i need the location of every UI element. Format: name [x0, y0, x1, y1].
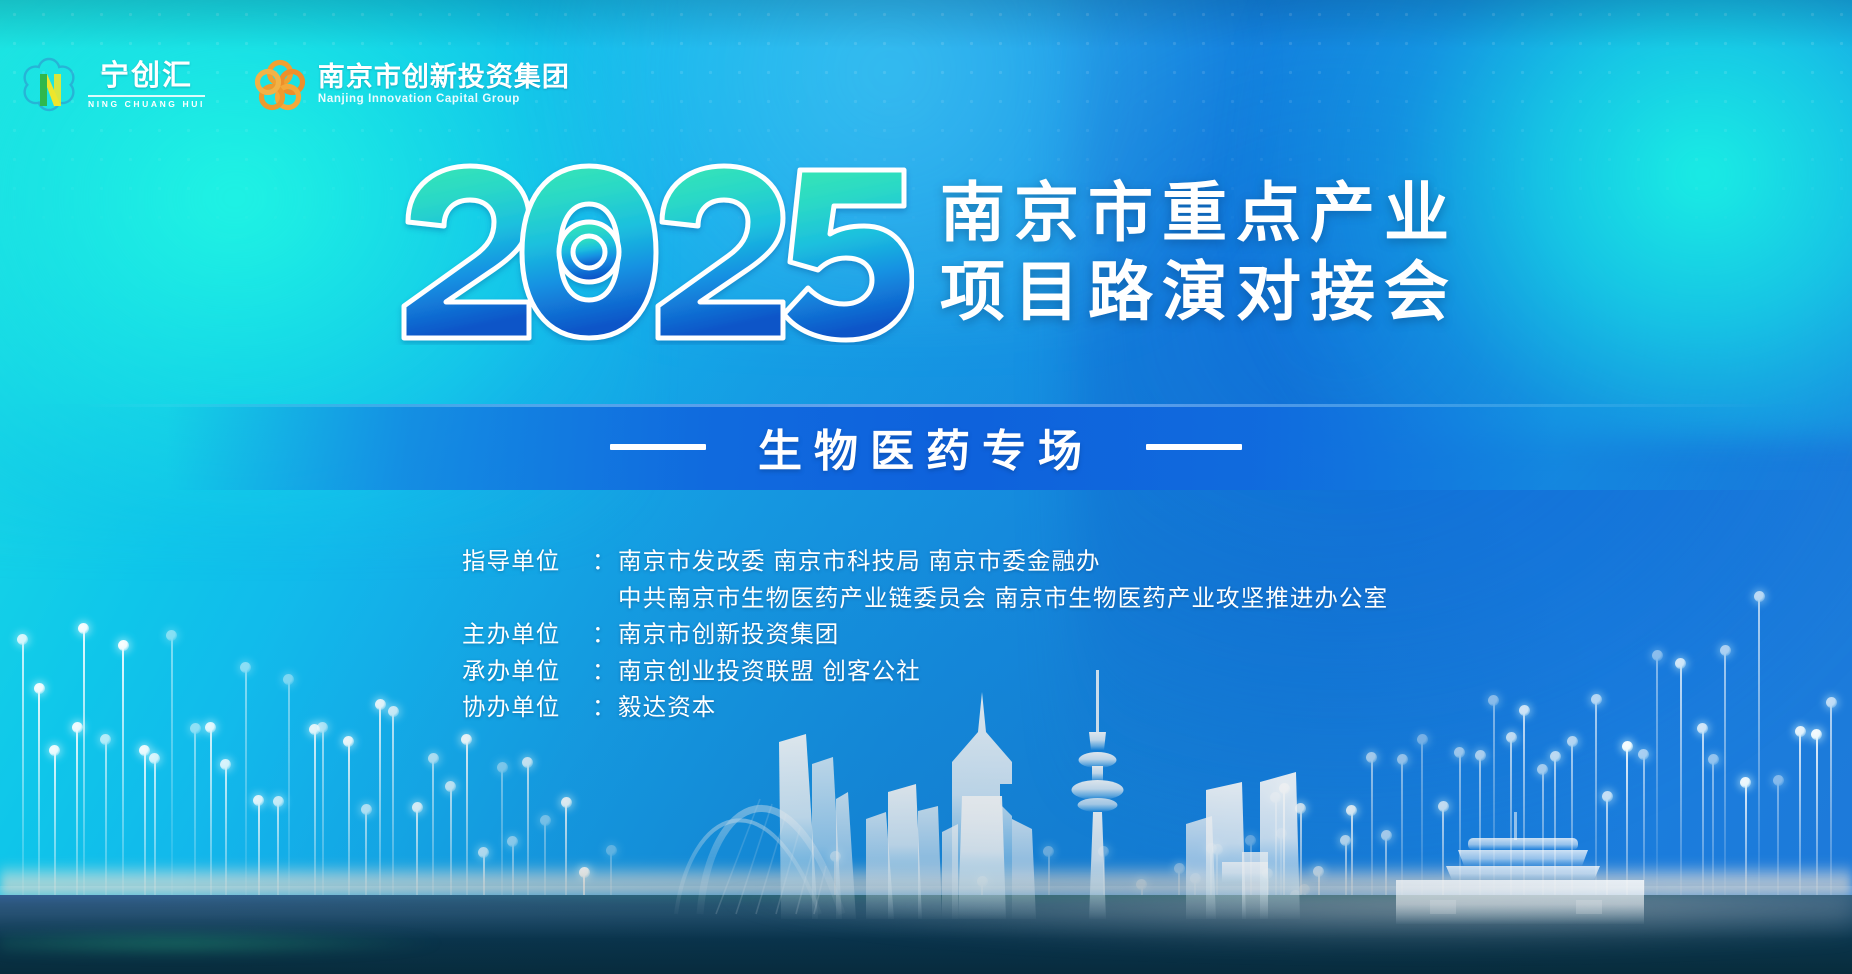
organizer-value-continued: 中共南京市生物医药产业链委员会 南京市生物医药产业攻坚推进办公室	[462, 580, 1388, 617]
organizer-list: 指导单位：南京市发改委 南京市科技局 南京市委金融办中共南京市生物医药产业链委员…	[462, 543, 1388, 726]
organizer-colon: ：	[592, 689, 618, 726]
organizer-value: 南京市发改委 南京市科技局 南京市委金融办	[618, 543, 1388, 580]
organizer-row: 承办单位：南京创业投资联盟 创客公社	[462, 653, 1388, 690]
title-block: 南京市重点产业 项目路演对接会	[0, 160, 1852, 345]
subtitle-dash-right	[1146, 444, 1242, 450]
five-petal-knot-mark-icon	[251, 56, 309, 114]
logo-ning-chuang-hui-cn: 宁创汇	[100, 62, 193, 91]
logo-nicg-text: 南京市创新投资集团 Nanjing Innovation Capital Gro…	[318, 63, 570, 107]
logo-nicg-cn: 南京市创新投资集团	[318, 63, 570, 91]
organizer-row: 主办单位：南京市创新投资集团	[462, 616, 1388, 653]
title-line-2: 项目路演对接会	[940, 255, 1458, 329]
logo-divider-rule	[88, 95, 205, 97]
organizer-row: 指导单位：南京市发改委 南京市科技局 南京市委金融办	[462, 543, 1388, 580]
organizer-value: 毅达资本	[618, 689, 1388, 726]
organizer-label: 指导单位	[462, 543, 592, 580]
logo-ning-chuang-hui: 宁创汇 NING CHUANG HUI	[18, 54, 205, 116]
organizer-label: 主办单位	[462, 616, 592, 653]
organizer-row: 协办单位：毅达资本	[462, 689, 1388, 726]
organizer-colon: ：	[592, 543, 618, 580]
ground-green-streak	[0, 930, 440, 956]
year-2025-graphic	[394, 160, 914, 345]
logo-nanjing-innovation-capital-group: 南京市创新投资集团 Nanjing Innovation Capital Gro…	[251, 56, 570, 114]
subtitle-dash-left	[610, 444, 706, 450]
organizer-value: 南京创业投资联盟 创客公社	[618, 653, 1388, 690]
title-line-1: 南京市重点产业	[940, 176, 1458, 250]
ground-glow	[704, 893, 1852, 953]
organizer-colon: ：	[592, 653, 618, 690]
poster-stage: 宁创汇 NING CHUANG HUI 南京市创新投资集团	[0, 0, 1852, 974]
logo-nicg-en: Nanjing Innovation Capital Group	[318, 93, 570, 107]
subtitle-text: 生物医药专场	[758, 415, 1094, 479]
organizer-value: 南京市创新投资集团	[618, 616, 1388, 653]
organizer-label: 承办单位	[462, 653, 592, 690]
logo-row: 宁创汇 NING CHUANG HUI 南京市创新投资集团	[18, 54, 570, 116]
organizer-colon: ：	[592, 616, 618, 653]
logo-ning-chuang-hui-en: NING CHUANG HUI	[88, 100, 205, 109]
logo-ning-chuang-hui-text: 宁创汇 NING CHUANG HUI	[88, 62, 205, 109]
organizer-label: 协办单位	[462, 689, 592, 726]
subtitle-row: 生物医药专场	[0, 404, 1852, 490]
plum-blossom-n-mark-icon	[18, 54, 80, 116]
title-chinese: 南京市重点产业 项目路演对接会	[940, 176, 1458, 328]
